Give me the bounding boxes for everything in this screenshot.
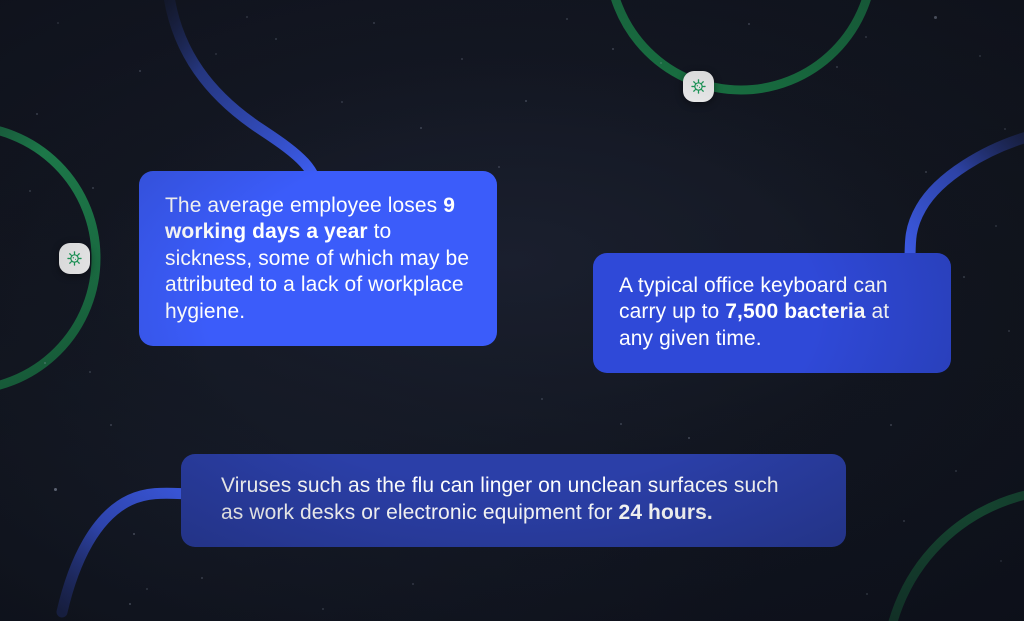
- connector-line-card-1: [168, 0, 318, 196]
- virus-icon: [66, 250, 83, 267]
- fact-card-text: A typical office keyboard can carry up t…: [619, 273, 925, 352]
- green-ring-top: [609, 0, 873, 90]
- fact-card-virus-lingering[interactable]: Viruses such as the flu can linger on un…: [181, 454, 846, 547]
- virus-badge-top[interactable]: [683, 71, 714, 102]
- fact-card-keyboard-bacteria[interactable]: A typical office keyboard can carry up t…: [593, 253, 951, 373]
- connector-line-card-3: [62, 493, 200, 612]
- fact-card-text: Viruses such as the flu can linger on un…: [221, 472, 806, 527]
- green-ring-bottom-right: [886, 490, 1024, 621]
- connector-line-card-2: [910, 135, 1024, 262]
- virus-badge-left[interactable]: [59, 243, 90, 274]
- infographic-stage: The average employee loses 9 working day…: [0, 0, 1024, 621]
- virus-icon: [690, 78, 707, 95]
- fact-card-text: The average employee loses 9 working day…: [165, 193, 471, 325]
- fact-card-sick-days[interactable]: The average employee loses 9 working day…: [139, 171, 497, 346]
